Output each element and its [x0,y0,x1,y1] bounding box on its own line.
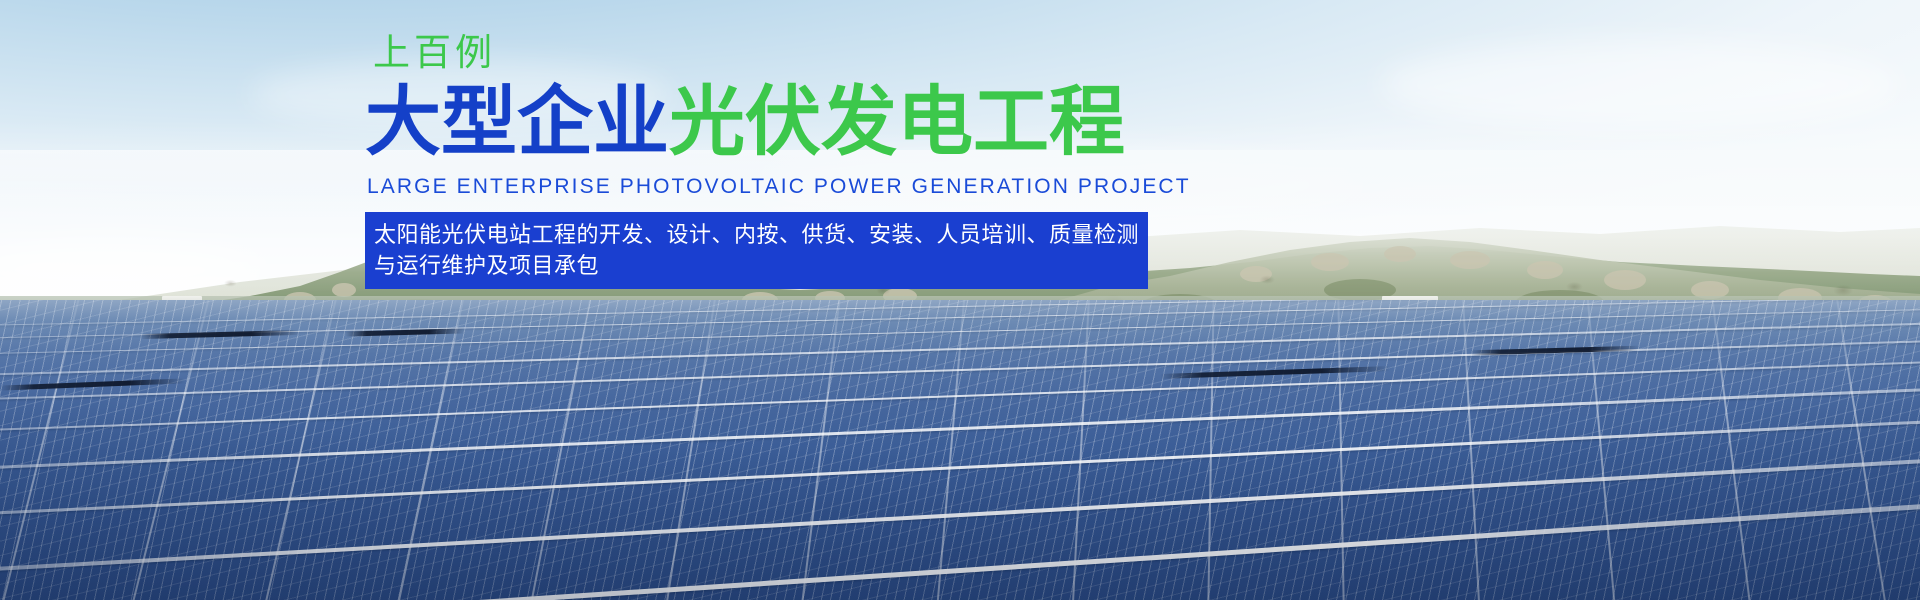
photovoltaic-banner: 上百例 大型企业光伏发电工程 LARGE ENTERPRISE PHOTOVOL… [0,0,1920,600]
headline-part-green: 光伏发电工程 [669,80,1125,165]
eyebrow-text: 上百例 [373,34,1125,71]
headline-part-blue: 大型企业 [365,80,669,165]
description-line-1: 太阳能光伏电站工程的开发、设计、内按、供货、安装、人员培训、质量检测 [374,219,1139,250]
cloud-shape [1380,40,1900,130]
description-line-2: 与运行维护及项目承包 [374,250,1139,281]
solar-vignette [0,300,1920,600]
banner-copy-block: 上百例 大型企业光伏发电工程 LARGE ENTERPRISE PHOTOVOL… [365,34,1125,289]
solar-panel-array [0,300,1920,600]
subtitle-english: LARGE ENTERPRISE PHOTOVOLTAIC POWER GENE… [367,176,1125,197]
description-box: 太阳能光伏电站工程的开发、设计、内按、供货、安装、人员培训、质量检测 与运行维护… [365,212,1148,289]
page-title: 大型企业光伏发电工程 [365,85,1125,161]
